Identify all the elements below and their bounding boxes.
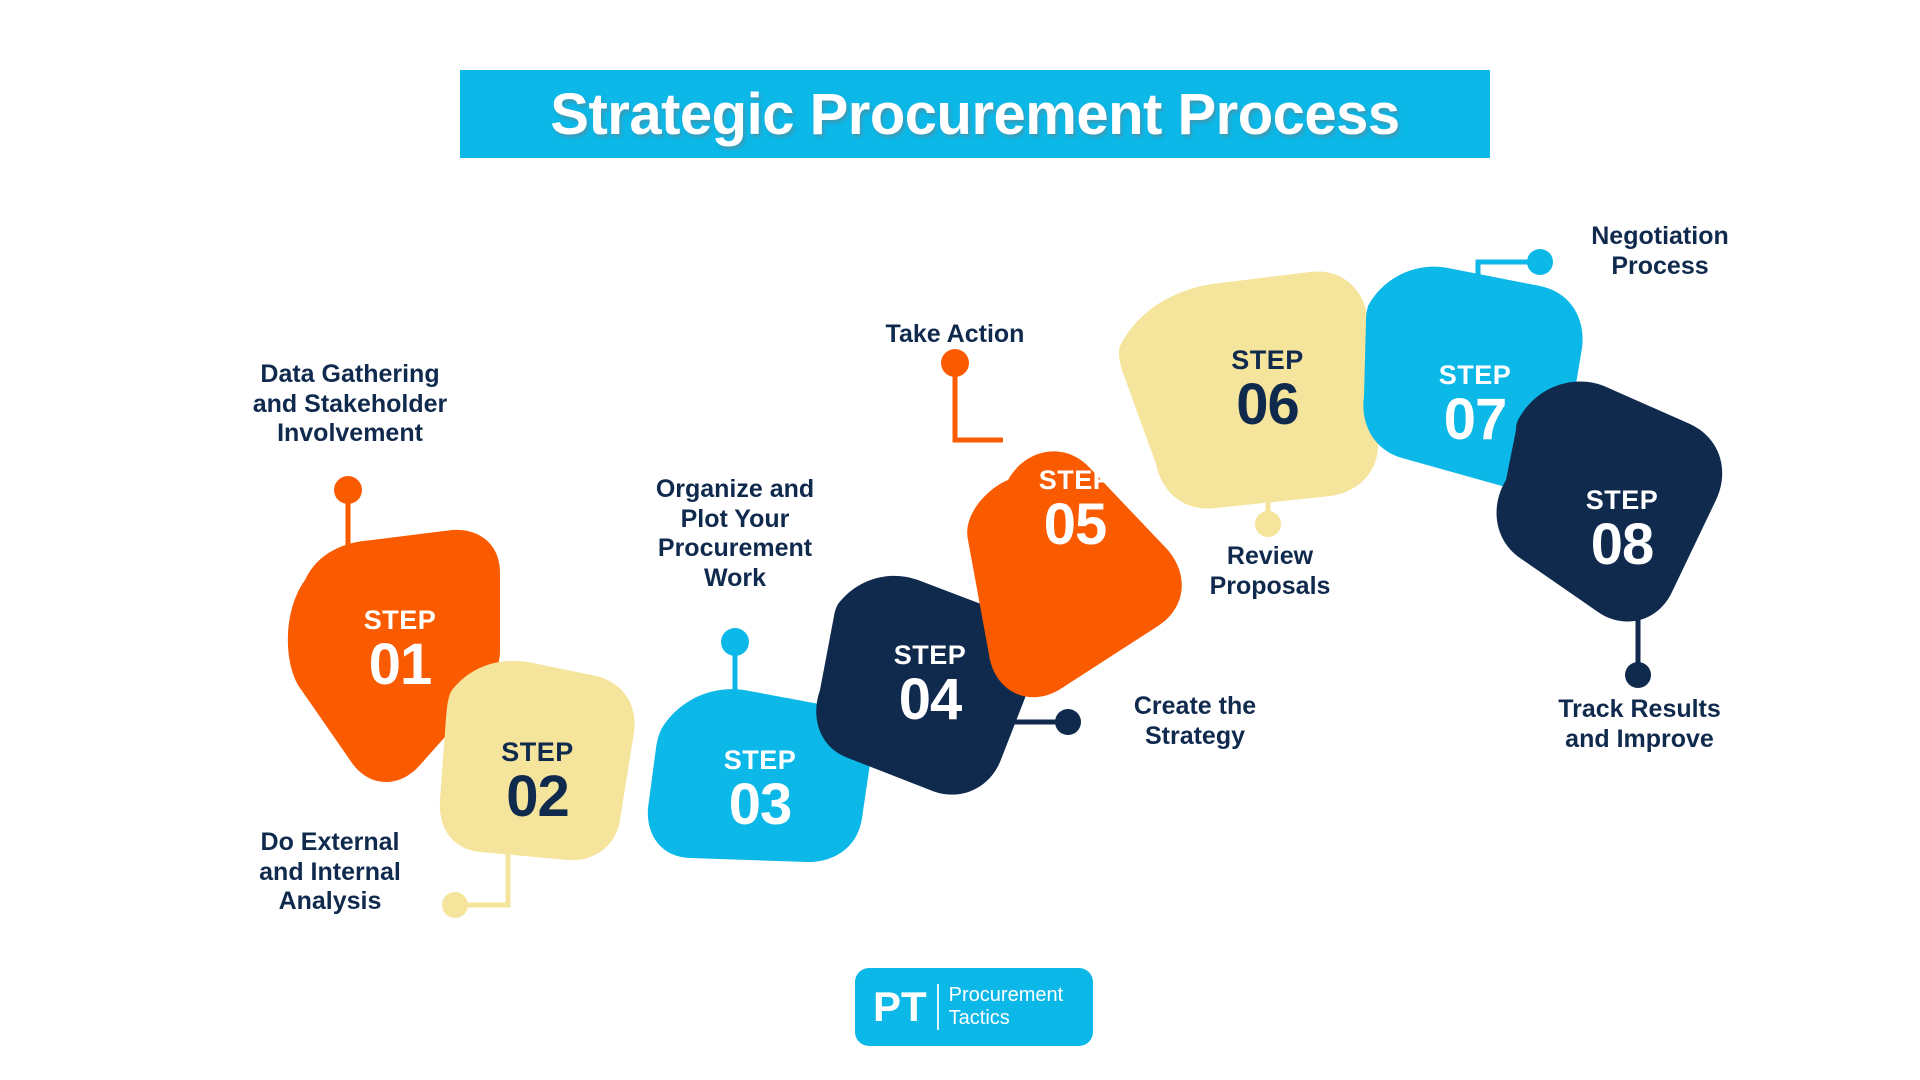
connector-dot-step-01 <box>334 476 362 504</box>
step-05-number: 05 <box>1044 496 1107 554</box>
step-04-number: 04 <box>899 671 962 729</box>
caption-step-08: Track Results and Improve <box>1512 695 1767 754</box>
caption-step-05: Take Action <box>830 320 1080 350</box>
step-02-word: STEP <box>501 739 574 766</box>
step-03-word: STEP <box>724 747 797 774</box>
step-01-label[interactable]: STEP 01 <box>295 575 505 725</box>
connector-dot-step-06 <box>1255 511 1281 537</box>
caption-step-03: Organize and Plot Your Procurement Work <box>600 475 870 593</box>
logo-line-1: Procurement <box>949 984 1064 1007</box>
step-04-word: STEP <box>894 642 967 669</box>
logo-wordmark: Procurement Tactics <box>949 984 1064 1030</box>
connector-dot-step-08 <box>1625 662 1651 688</box>
step-06-number: 06 <box>1236 376 1299 434</box>
logo-monogram: PT <box>873 986 927 1028</box>
caption-step-04: Create the Strategy <box>1075 692 1315 751</box>
step-07-number: 07 <box>1444 391 1507 449</box>
step-04-label[interactable]: STEP 04 <box>830 610 1030 760</box>
caption-step-02: Do External and Internal Analysis <box>190 828 470 917</box>
brand-logo[interactable]: PT Procurement Tactics <box>855 968 1093 1046</box>
step-02-number: 02 <box>506 768 569 826</box>
connector-dot-step-05 <box>941 349 969 377</box>
step-08-word: STEP <box>1586 487 1659 514</box>
connector-step-05 <box>941 349 1003 440</box>
step-05-word: STEP <box>1039 467 1112 494</box>
step-08-number: 08 <box>1591 516 1654 574</box>
step-06-label[interactable]: STEP 06 <box>1160 315 1375 465</box>
step-03-number: 03 <box>729 776 792 834</box>
caption-step-07: Negotiation Process <box>1535 222 1785 281</box>
step-01-number: 01 <box>369 636 432 694</box>
connector-dot-step-03 <box>721 628 749 656</box>
infographic-canvas: Strategic Procurement Process <box>0 0 1920 1080</box>
logo-divider <box>937 984 939 1030</box>
logo-line-2: Tactics <box>949 1007 1064 1030</box>
step-01-word: STEP <box>364 607 437 634</box>
caption-step-06: Review Proposals <box>1145 542 1395 601</box>
step-06-word: STEP <box>1231 347 1304 374</box>
caption-step-01: Data Gathering and Stakeholder Involveme… <box>200 360 500 449</box>
step-08-label[interactable]: STEP 08 <box>1522 455 1722 605</box>
step-07-word: STEP <box>1439 362 1512 389</box>
